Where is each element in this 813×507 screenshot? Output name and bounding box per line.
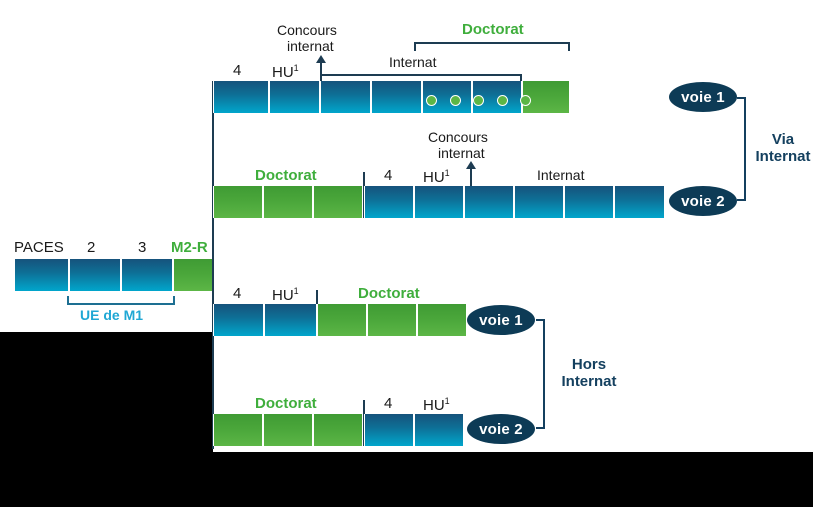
row3-label-hu-text: HU <box>272 287 294 304</box>
base-label-ue-de-m1: UE de M1 <box>80 308 143 324</box>
row3-block-2[interactable] <box>264 304 317 336</box>
row1-label-concours-line2: internat <box>287 39 334 55</box>
row1-label-year4: 4 <box>233 63 241 80</box>
row2-label-concours-line2: internat <box>438 146 485 162</box>
row1-label-internat: Internat <box>389 55 436 71</box>
diagram-canvas: PACES 2 3 M2-R UE de M1 4 HU1 Concours i… <box>0 0 813 507</box>
row1-dot-3 <box>473 95 484 106</box>
row3-label-hu: HU1 <box>272 286 299 305</box>
group-label-via-internat-line1: Via <box>772 131 794 148</box>
row3-block-5[interactable] <box>417 304 467 336</box>
row1-internat-bar <box>320 74 522 76</box>
base-block-m2r[interactable] <box>173 259 213 291</box>
group-label-via-internat: Via Internat <box>755 131 811 166</box>
row3-label-doctorat: Doctorat <box>358 286 420 303</box>
row2-block-8[interactable] <box>564 186 614 218</box>
row3-block-3[interactable] <box>317 304 367 336</box>
row1-block-1[interactable] <box>213 81 269 113</box>
row3-label-hu-sup: 1 <box>294 286 299 296</box>
row2-label-hu: HU1 <box>423 168 450 187</box>
row4-label-doctorat: Doctorat <box>255 396 317 413</box>
base-label-year3: 3 <box>138 240 146 257</box>
row1-voie-badge[interactable]: voie 1 <box>669 82 737 112</box>
row4-label-hu-sup: 1 <box>445 396 450 406</box>
row4-block-5[interactable] <box>414 414 464 446</box>
row2-label-internat: Internat <box>537 168 584 184</box>
base-label-year2: 2 <box>87 240 95 257</box>
row1-dot-5 <box>520 95 531 106</box>
row2-block-1[interactable] <box>213 186 263 218</box>
base-block-year3[interactable] <box>121 259 173 291</box>
row1-label-hu: HU1 <box>272 63 299 82</box>
row1-concours-arrow-head <box>316 55 326 63</box>
group-label-hors-internat-line2: Internat <box>561 373 616 390</box>
row3-block-4[interactable] <box>367 304 417 336</box>
row2-label-hu-text: HU <box>423 169 445 186</box>
row1-dot-2 <box>450 95 461 106</box>
row4-block-4[interactable] <box>364 414 414 446</box>
row1-block-4[interactable] <box>371 81 422 113</box>
row2-label-doctorat: Doctorat <box>255 168 317 185</box>
row2-block-7[interactable] <box>514 186 564 218</box>
row1-bracket-doctorat <box>414 42 570 53</box>
group-label-hors-internat: Hors Internat <box>553 356 625 391</box>
row3-block-1[interactable] <box>213 304 264 336</box>
row1-dot-1 <box>426 95 437 106</box>
row4-block-1[interactable] <box>213 414 263 446</box>
row1-block-2[interactable] <box>269 81 320 113</box>
row2-block-9[interactable] <box>614 186 665 218</box>
row2-label-hu-sup: 1 <box>445 168 450 178</box>
base-block-year2[interactable] <box>69 259 121 291</box>
row2-block-3[interactable] <box>313 186 363 218</box>
spine-vertical-line <box>212 81 214 449</box>
row1-label-hu-sup: 1 <box>294 63 299 73</box>
group-label-hors-internat-line1: Hors <box>572 356 606 373</box>
row3-voie-badge[interactable]: voie 1 <box>467 305 535 335</box>
row1-label-hu-text: HU <box>272 64 294 81</box>
row1-block-3[interactable] <box>320 81 371 113</box>
row2-block-5[interactable] <box>414 186 464 218</box>
black-plate-right <box>600 452 813 507</box>
row2-block-6[interactable] <box>464 186 514 218</box>
group-label-via-internat-line2: Internat <box>755 148 810 165</box>
row3-label-year4: 4 <box>233 286 241 303</box>
row1-dot-4 <box>497 95 508 106</box>
base-block-paces[interactable] <box>14 259 69 291</box>
row2-block-2[interactable] <box>263 186 313 218</box>
row2-concours-arrow-head <box>466 161 476 169</box>
base-label-paces: PACES <box>14 240 64 257</box>
row1-label-concours-line1: Concours <box>277 23 337 39</box>
base-label-m2r: M2-R <box>171 240 208 257</box>
row2-label-concours-line1: Concours <box>428 130 488 146</box>
row4-voie-badge[interactable]: voie 2 <box>467 414 535 444</box>
row4-label-hu-text: HU <box>423 397 445 414</box>
row4-label-hu: HU1 <box>423 396 450 415</box>
row4-block-2[interactable] <box>263 414 313 446</box>
row4-block-3[interactable] <box>313 414 363 446</box>
row2-voie-badge[interactable]: voie 2 <box>669 186 737 216</box>
row1-label-doctorat: Doctorat <box>462 22 524 39</box>
bracket-ue-de-m1 <box>67 294 175 305</box>
row2-label-year4: 4 <box>384 168 392 185</box>
row4-label-year4: 4 <box>384 396 392 413</box>
row2-block-4[interactable] <box>364 186 414 218</box>
